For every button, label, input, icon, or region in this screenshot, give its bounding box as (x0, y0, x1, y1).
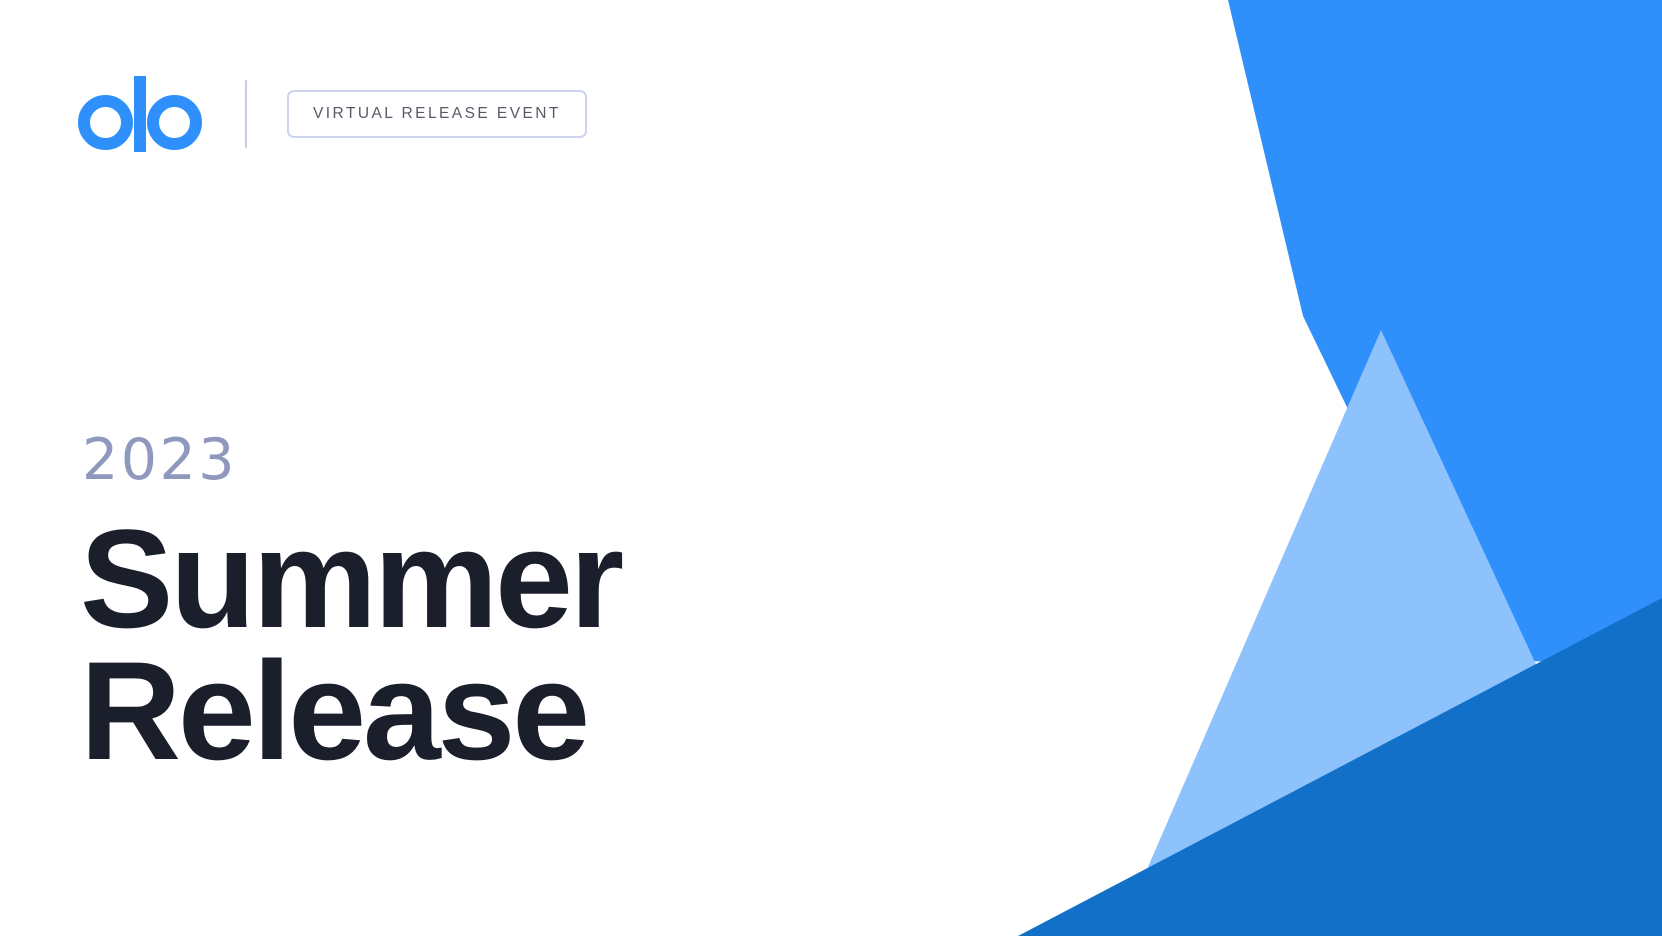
page-title: Summer Release (80, 513, 980, 776)
dark-blue-wedge (1018, 598, 1662, 936)
header-divider (245, 80, 247, 148)
olo-logo (78, 76, 202, 152)
logo-ring-left (84, 101, 127, 144)
logo-ring-right (153, 101, 196, 144)
slide-header: VIRTUAL RELEASE EVENT (78, 76, 587, 152)
hero-text-block: 2023 Summer Release (80, 432, 980, 776)
logo-bar (134, 76, 146, 152)
light-blue-triangle (1118, 330, 1662, 936)
page-title-line-2: Release (80, 645, 980, 777)
hero-year: 2023 (82, 432, 980, 489)
event-badge-label: VIRTUAL RELEASE EVENT (313, 106, 561, 122)
page-title-line-1: Summer (80, 513, 980, 645)
event-badge[interactable]: VIRTUAL RELEASE EVENT (287, 90, 587, 138)
bright-blue-polygon (1228, 0, 1662, 662)
release-announcement-slide: VIRTUAL RELEASE EVENT 2023 Summer Releas… (0, 0, 1662, 936)
